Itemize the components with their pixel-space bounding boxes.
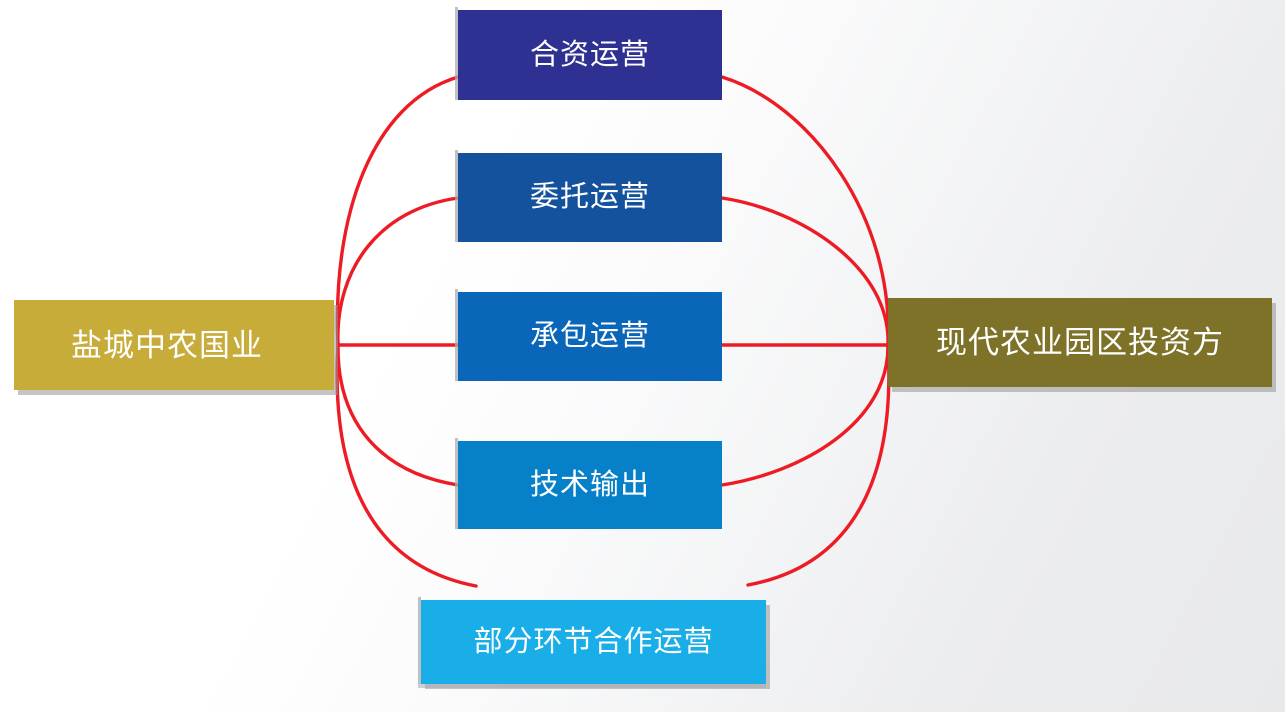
connector-left-to-mid-0: [337, 77, 458, 345]
node-right-party[interactable]: 现代农业园区投资方: [888, 298, 1272, 387]
connector-mid-1-to-right: [722, 198, 888, 345]
connector-bottom-to-right: [748, 345, 889, 585]
node-model-technology-output[interactable]: 技术输出: [458, 441, 722, 529]
node-left-party-label: 盐城中农国业: [14, 330, 320, 361]
node-model-partial-link-cooperation-label: 部分环节合作运营: [421, 628, 766, 657]
connector-mid-3-to-right: [722, 345, 888, 485]
node-left-party[interactable]: 盐城中农国业: [14, 300, 334, 390]
node-model-joint-venture[interactable]: 合资运营: [458, 10, 722, 100]
node-model-contract-operation[interactable]: 承包运营: [458, 292, 722, 381]
node-model-partial-link-cooperation[interactable]: 部分环节合作运营: [421, 600, 766, 684]
node-model-contract-operation-label: 承包运营: [458, 322, 722, 351]
node-model-joint-venture-label: 合资运营: [458, 41, 722, 70]
connector-left-to-mid-3: [338, 345, 458, 485]
node-model-entrusted-operation[interactable]: 委托运营: [458, 153, 722, 242]
connector-mid-0-to-right: [722, 77, 888, 345]
node-right-party-label: 现代农业园区投资方: [888, 327, 1272, 358]
diagram-canvas: 盐城中农国业 合资运营 委托运营 承包运营 技术输出 部分环节合作运营 现代农业…: [0, 0, 1285, 712]
node-model-technology-output-label: 技术输出: [458, 471, 722, 500]
connector-left-to-mid-1: [338, 198, 458, 345]
node-model-entrusted-operation-label: 委托运营: [458, 183, 722, 212]
